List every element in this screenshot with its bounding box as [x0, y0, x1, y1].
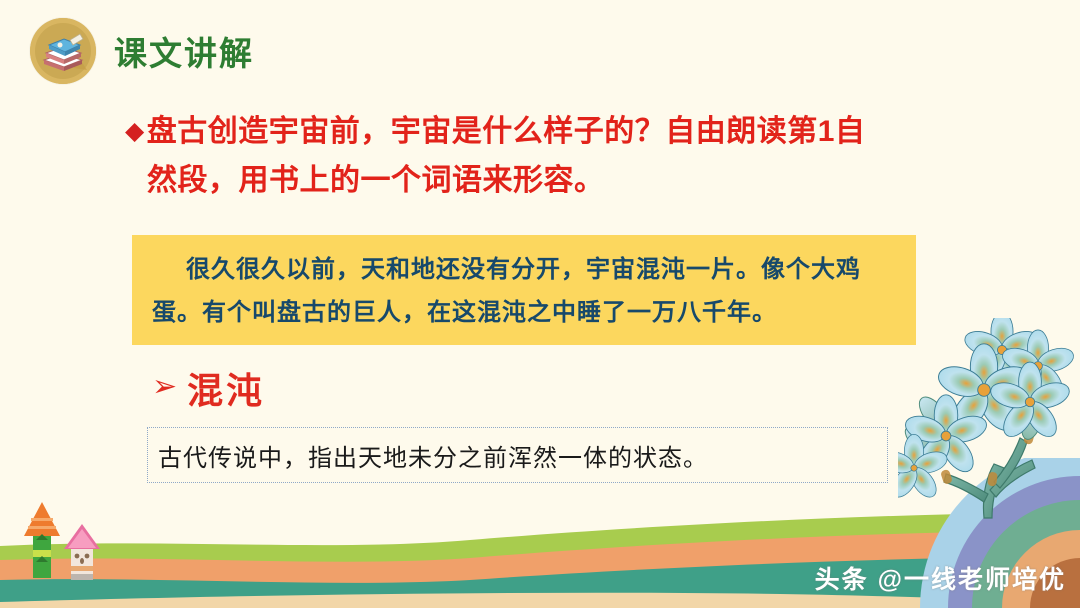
- question-line-2: 然段，用书上的一个词语来形容。: [125, 157, 915, 206]
- word-entry-term: 混沌: [187, 362, 265, 414]
- passage-line-1: 很久很久以前，天和地还没有分开，宇宙混沌一片。像个大鸡: [152, 249, 896, 292]
- definition-box: 古代传说中，指出天地未分之前浑然一体的状态。: [147, 427, 888, 483]
- definition-text: 古代传说中，指出天地未分之前浑然一体的状态。: [158, 438, 708, 473]
- word-entry-heading: ➢ 混沌: [152, 362, 265, 414]
- question-text: ◆盘古创造宇宙前，宇宙是什么样子的？自由朗读第1自 然段，用书上的一个词语来形容…: [125, 108, 915, 205]
- passage-line-2: 蛋。有个叫盘古的巨人，在这混沌之中睡了一万八千年。: [152, 292, 896, 335]
- books-icon: [30, 18, 96, 84]
- slide-canvas: 课文讲解 ◆盘古创造宇宙前，宇宙是什么样子的？自由朗读第1自 然段，用书上的一个…: [0, 0, 1080, 608]
- diamond-bullet-icon: ◆: [125, 117, 145, 145]
- pink-roof-house-decoration: [63, 522, 101, 580]
- page-title: 课文讲解: [114, 27, 254, 75]
- question-line-1: 盘古创造宇宙前，宇宙是什么样子的？自由朗读第1自: [147, 115, 866, 148]
- passage-box: 很久很久以前，天和地还没有分开，宇宙混沌一片。像个大鸡 蛋。有个叫盘古的巨人，在…: [132, 235, 916, 345]
- green-tower-decoration: [20, 500, 64, 578]
- header: 课文讲解: [30, 18, 254, 84]
- arrow-bullet-icon: ➢: [152, 372, 177, 402]
- watermark-text: 头条 @一线老师培优: [815, 560, 1066, 596]
- blue-plumeria-flowers-illustration: [898, 318, 1078, 523]
